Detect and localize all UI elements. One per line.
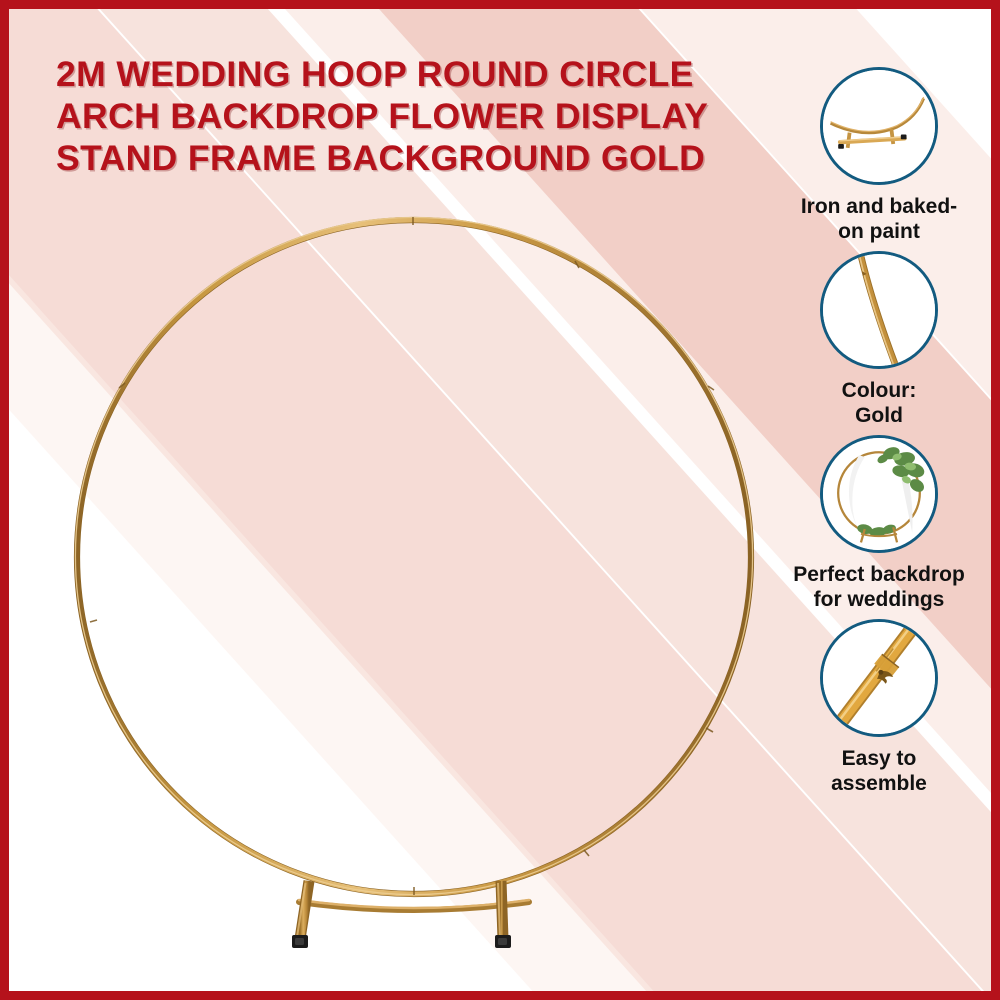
- assembly-connector-icon: [820, 619, 938, 737]
- feature-label: Perfect backdrop for weddings: [793, 562, 965, 612]
- feature-item-perfect-backdrop: Perfect backdrop for weddings: [771, 435, 987, 612]
- feature-item-colour-gold: Colour: Gold: [771, 251, 987, 428]
- hoop-base-detail-icon: [820, 67, 938, 185]
- feature-item-easy-assemble: Easy to assemble: [771, 619, 987, 796]
- feature-item-iron-baked-paint: Iron and baked- on paint: [771, 67, 987, 244]
- feature-label: Easy to assemble: [831, 746, 927, 796]
- decorated-wedding-hoop-icon: [820, 435, 938, 553]
- feature-list: Iron and baked- on paint Colour: Gold: [771, 67, 987, 803]
- product-promo-image: 2M WEDDING HOOP ROUND CIRCLE ARCH BACKDR…: [0, 0, 1000, 1000]
- gold-rod-closeup-icon: [820, 251, 938, 369]
- feature-label: Iron and baked- on paint: [801, 194, 957, 244]
- feature-label: Colour: Gold: [842, 378, 917, 428]
